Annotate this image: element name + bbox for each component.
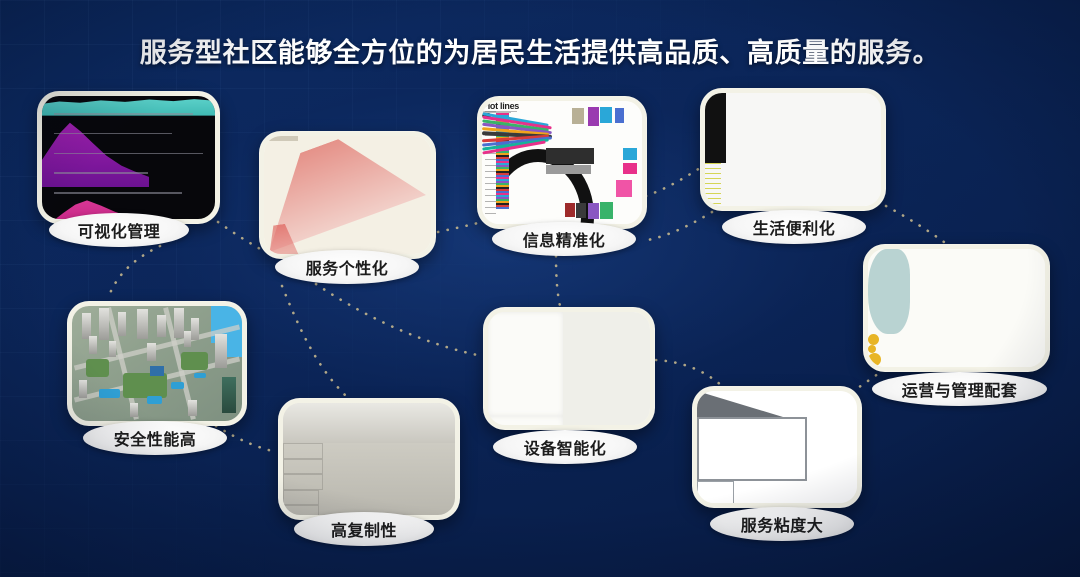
thumb-curved-screen-room <box>283 403 455 515</box>
dashboard-art: 0.5% 400k <box>705 93 881 206</box>
page-title: 服务型社区能够全方位的为居民生活提供高品质、高质量的服务。 <box>0 31 1080 70</box>
smart-home-art <box>697 391 857 503</box>
card-smart-devices[interactable]: THE INTER-CONNECTED ECOSYSTEM <box>483 307 655 430</box>
city-art <box>72 306 242 421</box>
label-safety[interactable]: 安全性能高 <box>83 421 227 455</box>
label-text: 可视化管理 <box>78 218 161 242</box>
label-text: 安全性能高 <box>114 426 197 450</box>
slide-canvas: 服务型社区能够全方位的为居民生活提供高品质、高质量的服务。 <box>0 0 1080 577</box>
label-operations-management[interactable]: 运营与管理配套 <box>872 372 1047 406</box>
card-safety[interactable] <box>67 301 247 426</box>
label-text: 生活便利化 <box>753 215 836 239</box>
thumb-hex-ecosystem-spread: THE INTER-CONNECTED ECOSYSTEM <box>488 312 650 425</box>
connector-smartdevices-to-stickiness <box>656 360 722 386</box>
connector-personalized-to-replicability <box>282 286 346 396</box>
connector-personalized-to-information <box>438 223 478 232</box>
label-smart-devices[interactable]: 设备智能化 <box>493 430 637 464</box>
card-information-accuracy[interactable]: Plot lines <box>477 96 647 229</box>
thumb-smart-home-diagram <box>697 391 857 503</box>
thumb-isometric-city <box>72 306 242 421</box>
thumb-green-dashboard: 0.5% 400k <box>705 93 881 206</box>
label-information-accuracy[interactable]: 信息精准化 <box>492 222 636 256</box>
plan-art <box>868 249 1045 367</box>
label-replicability[interactable]: 高复制性 <box>294 512 434 546</box>
card-life-convenience[interactable]: 0.5% 400k <box>700 88 886 211</box>
label-text: 高复制性 <box>331 517 397 541</box>
connector-personalized-to-smartdevices <box>316 284 482 356</box>
connector-life-to-operations <box>886 206 944 242</box>
thumb-map-circular-plan <box>868 249 1045 367</box>
label-visualization[interactable]: 可视化管理 <box>49 213 189 247</box>
label-text: 服务粘度大 <box>741 512 824 536</box>
card-operations-management[interactable] <box>863 244 1050 372</box>
sankey-art: Plot lines <box>482 101 642 224</box>
card-visualization[interactable] <box>37 91 220 224</box>
immersive-room-art <box>283 403 455 515</box>
card-personalized-service[interactable]: 13 $3.5IC 14 $1.9IC <box>259 131 436 259</box>
label-text: 服务个性化 <box>306 255 389 279</box>
label-text: 运营与管理配套 <box>902 377 1018 401</box>
label-personalized-service[interactable]: 服务个性化 <box>275 250 419 284</box>
radial-art: 13 $3.5IC 14 $1.9IC <box>264 136 431 254</box>
chart-art <box>42 96 215 219</box>
label-text: 信息精准化 <box>523 227 606 251</box>
thumb-plot-lines-sankey: Plot lines <box>482 101 642 224</box>
connector-visualization-to-safety <box>108 246 160 298</box>
label-service-stickiness[interactable]: 服务粘度大 <box>710 507 854 541</box>
label-life-convenience[interactable]: 生活便利化 <box>722 210 866 244</box>
label-text: 设备智能化 <box>524 435 607 459</box>
card-service-stickiness[interactable] <box>692 386 862 508</box>
thumb-red-radial-infographic: 13 $3.5IC 14 $1.9IC <box>264 136 431 254</box>
ecosystem-art: THE INTER-CONNECTED ECOSYSTEM <box>488 312 650 425</box>
card-replicability[interactable] <box>278 398 460 520</box>
thumb-dark-area-chart <box>42 96 215 219</box>
connector-visualization-to-personalized <box>218 222 262 250</box>
connector-information-to-smartdevices <box>556 256 560 306</box>
connector-life-to-information-outer <box>648 212 712 240</box>
connector-information-to-life <box>646 168 700 196</box>
